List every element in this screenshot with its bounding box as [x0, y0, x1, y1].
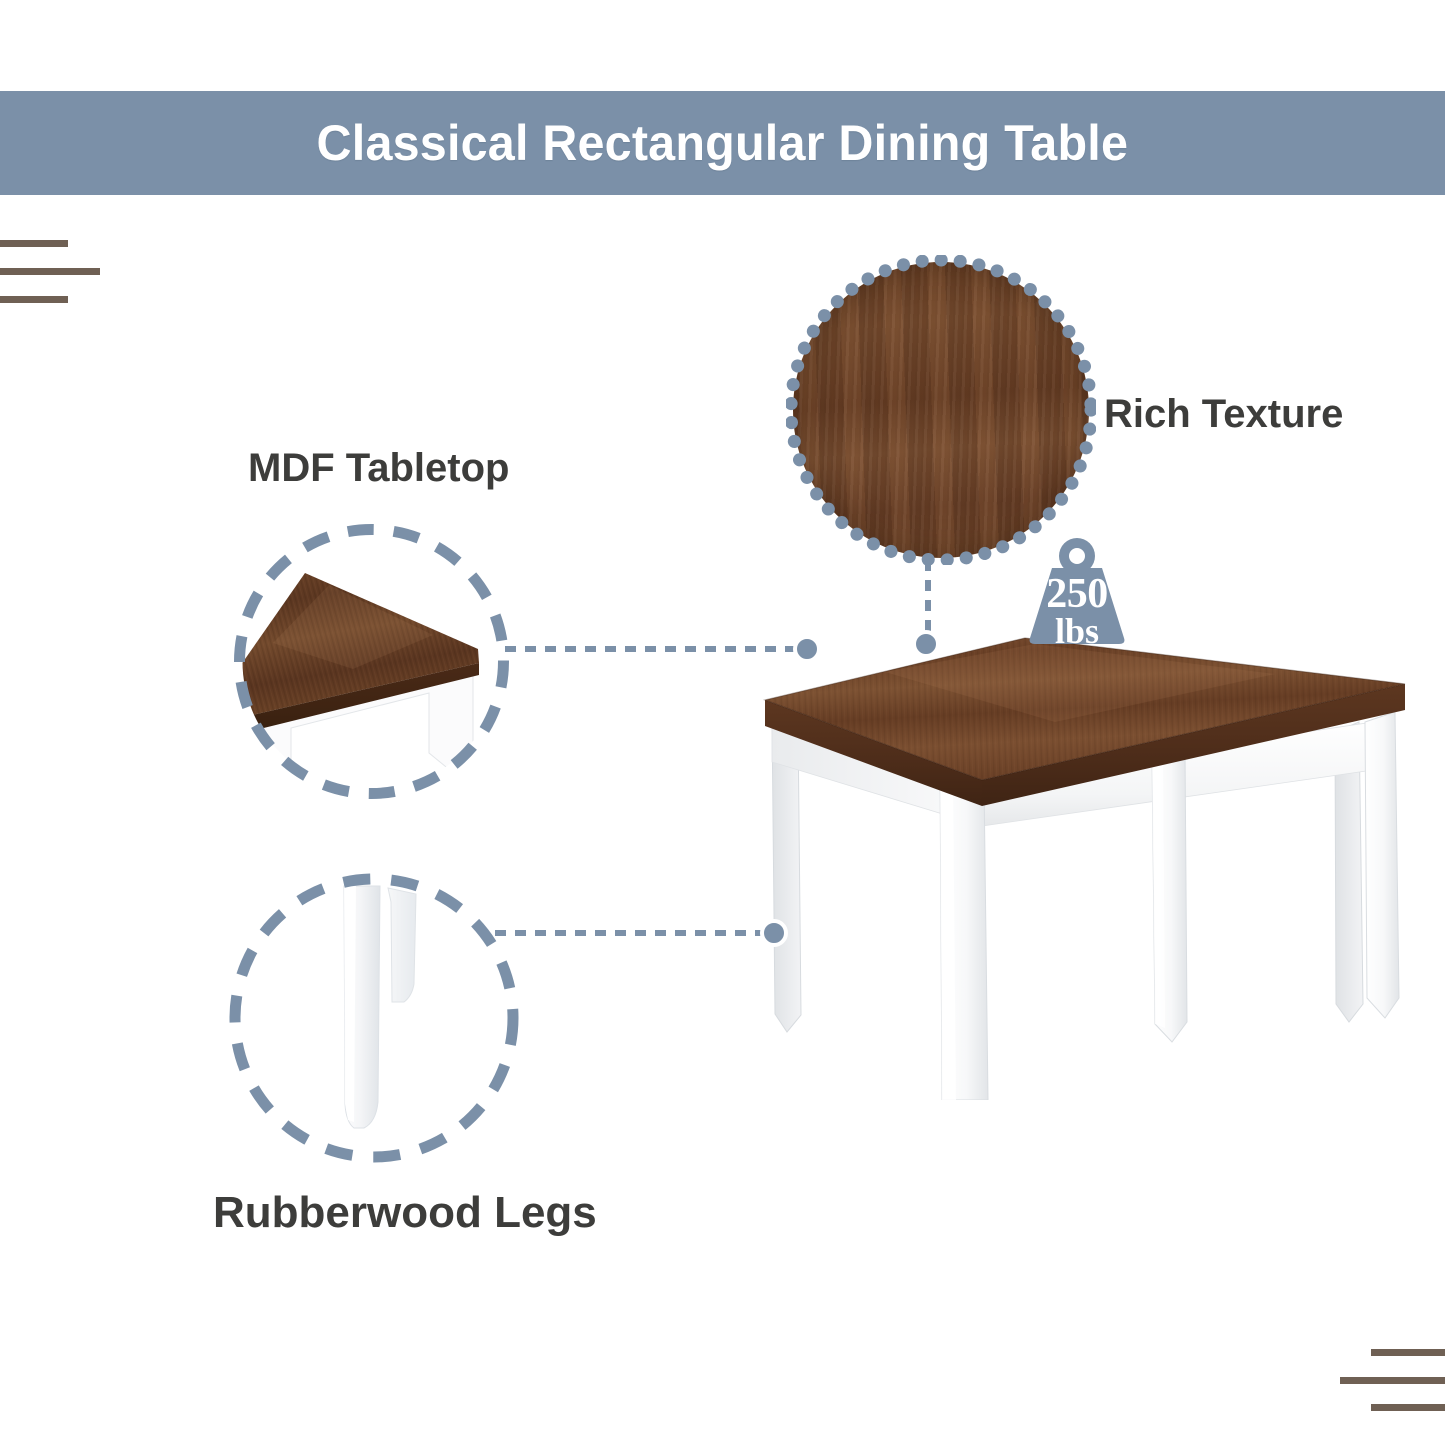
rich-texture-detail-image	[793, 262, 1089, 558]
decor-line-top-left-2	[0, 268, 100, 275]
rubberwood-legs-detail-image	[228, 872, 520, 1164]
weight-icon	[1018, 538, 1136, 646]
connector-dot-mdf-tabletop	[793, 635, 821, 663]
label-mdf-tabletop: MDF Tabletop	[248, 446, 509, 491]
page-title: Classical Rectangular Dining Table	[317, 114, 1129, 172]
label-rubberwood-legs: Rubberwood Legs	[213, 1188, 597, 1238]
decor-line-top-left-1	[0, 240, 68, 247]
connector-line-rich-texture	[925, 560, 931, 638]
connector-line-mdf-tabletop	[505, 646, 805, 652]
header-banner: Classical Rectangular Dining Table	[0, 91, 1445, 195]
decor-line-bottom-right-2	[1340, 1377, 1445, 1384]
dining-table-illustration	[735, 600, 1415, 1100]
connector-dot-rubberwood-legs	[760, 919, 788, 947]
weight-capacity-badge: 250 lbs	[1018, 538, 1136, 646]
decor-line-bottom-right-1	[1371, 1349, 1445, 1356]
infographic-canvas: Classical Rectangular Dining Table	[0, 0, 1445, 1445]
label-rich-texture: Rich Texture	[1104, 392, 1343, 437]
mdf-tabletop-detail-image	[233, 523, 510, 800]
decor-line-bottom-right-3	[1371, 1404, 1445, 1411]
decor-line-top-left-3	[0, 296, 68, 303]
connector-dot-rich-texture	[912, 630, 940, 658]
